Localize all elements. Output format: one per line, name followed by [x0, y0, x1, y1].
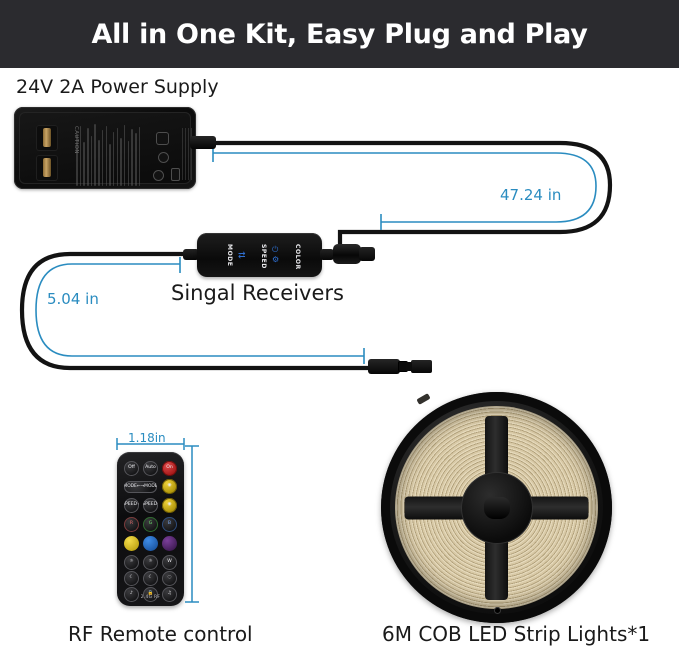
dc-barrel-plug [333, 244, 361, 264]
certification-mark-2 [158, 152, 169, 163]
certification-mark-1 [156, 132, 169, 145]
ac-prong-lower [43, 158, 51, 177]
remote-key-green[interactable]: G [143, 517, 158, 532]
remote-key-off[interactable]: Off [124, 461, 139, 476]
remote-key-warm-1[interactable]: ☼ [124, 555, 139, 570]
remote-key-auto[interactable]: Auto [143, 461, 158, 476]
speed-icon: ⚙ [272, 255, 279, 264]
remote-footer-text: 2.4G RF [117, 595, 184, 600]
dc-barrel-socket [359, 247, 375, 261]
remote-key-cool-2[interactable]: ☾ [143, 571, 158, 586]
receiver-color-label: COLOR [294, 244, 301, 270]
remote-key-on[interactable]: On [162, 461, 177, 476]
remote-key-brightness-down[interactable]: ◉ [162, 498, 177, 513]
receiver-output-jack [320, 249, 334, 260]
reel-screw-hole [494, 607, 501, 614]
remote-swatch-yellow[interactable] [124, 536, 139, 551]
remote-swatch-blue[interactable] [143, 536, 158, 551]
certification-mark-3 [153, 170, 164, 181]
strip-connector-female [411, 360, 432, 373]
receiver-mode-label: MODE [226, 244, 233, 267]
remote-swatch-purple[interactable] [162, 536, 177, 551]
ac-prong-upper [43, 128, 51, 147]
led-strip-reel [381, 392, 612, 623]
dimension-line-4724 [213, 153, 596, 222]
strip-connector-male [368, 359, 400, 374]
adapter-caution-text: CAUTION [73, 126, 79, 154]
receiver-speed-label: SPEED [260, 244, 267, 269]
infographic-canvas: All in One Kit, Easy Plug and Play 24V 2… [0, 0, 679, 651]
reel-notch [416, 393, 430, 405]
certification-mark-4 [171, 168, 180, 181]
mode-icon: ⇄ [238, 251, 246, 260]
remote-key-blue[interactable]: B [162, 517, 177, 532]
power-icon: ⏻ [272, 245, 278, 254]
adapter-face: CAUTION [19, 112, 191, 184]
signal-receiver: MODE SPEED COLOR ⇄ ⏻ ⚙ [197, 233, 322, 277]
remote-key-dim[interactable]: ◌ [162, 571, 177, 586]
remote-key-cool-1[interactable]: ☾ [124, 571, 139, 586]
remote-key-brightness-up[interactable]: ◉ [162, 479, 177, 494]
dimension-line-504 [36, 264, 364, 356]
adapter-cable-strain-relief [190, 136, 216, 149]
remote-key-mode[interactable]: MODE←→MODE [124, 481, 157, 493]
adapter-spec-text [76, 120, 150, 186]
remote-key-warm-2[interactable]: ☼ [143, 555, 158, 570]
reel-core [484, 497, 510, 519]
rf-remote-control: Off Auto On MODE←→MODE ◉ SPEED+ SPEED- ◉… [117, 452, 184, 606]
remote-key-speed-down[interactable]: SPEED- [143, 498, 158, 513]
remote-key-speed-up[interactable]: SPEED+ [124, 498, 139, 513]
remote-key-white[interactable]: W [162, 555, 177, 570]
power-adapter: CAUTION [14, 107, 196, 189]
remote-key-red[interactable]: R [124, 517, 139, 532]
